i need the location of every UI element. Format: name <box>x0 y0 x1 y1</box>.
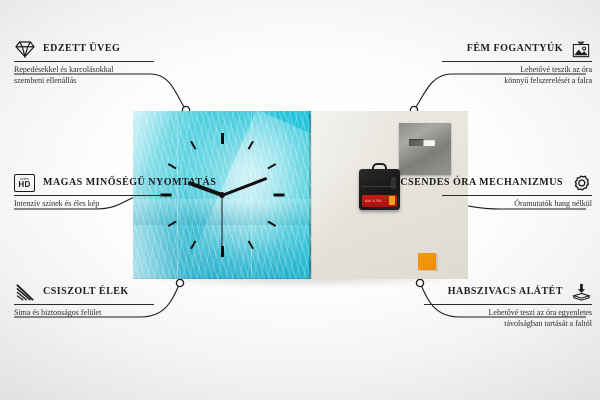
diamond-icon <box>14 40 36 58</box>
callout-header: FÉM FOGANTYÚK <box>442 40 592 58</box>
callout-description: Intenzív színek és éles kép <box>14 199 164 210</box>
callout-description: Óramutatók hang nélkül <box>442 199 592 210</box>
clock-tick <box>248 141 254 150</box>
callout-divider <box>14 304 154 305</box>
mechanism-hook <box>372 163 387 172</box>
callout-title: CSISZOLT ÉLEK <box>43 286 129 299</box>
callout-divider <box>14 195 164 196</box>
callout-title: HABSZIVACS ALÁTÉT <box>448 286 563 299</box>
callout-foam-pad: HABSZIVACS ALÁTÉT Lehetővé teszi az óra … <box>424 283 592 330</box>
callout-header: ultra HD MAGAS MINŐSÉGŰ NYOMTATÁS <box>14 174 164 192</box>
clock-second-hand <box>222 195 223 247</box>
clock-tick <box>190 141 196 150</box>
callout-title: MAGAS MINŐSÉGŰ NYOMTATÁS <box>43 177 216 190</box>
callout-description: Repedésekkel és karcolásokkal szembeni e… <box>14 65 154 87</box>
picture-hanger-icon <box>570 40 592 58</box>
gear-icon <box>570 174 592 192</box>
callout-title: FÉM FOGANTYÚK <box>467 43 563 56</box>
callout-metal-handles: FÉM FOGANTYÚK Lehetővé teszik az óra kön… <box>442 40 592 87</box>
callout-high-quality-print: ultra HD MAGAS MINŐSÉGŰ NYOMTATÁS Intenz… <box>14 174 164 210</box>
battery-terminal <box>389 196 395 205</box>
callout-header: EDZETT ÜVEG <box>14 40 154 58</box>
clock-tick <box>221 246 224 257</box>
clock-center-cap <box>219 192 225 198</box>
ultra-hd-icon-main-text: HD <box>18 181 30 189</box>
clock-tick <box>168 163 177 169</box>
callout-divider <box>424 304 592 305</box>
product-infographic: AA 1.5V EDZETT ÜVEG Repedésekkel és karc… <box>0 0 600 400</box>
ultra-hd-icon: ultra HD <box>14 174 36 192</box>
callout-divider <box>14 61 154 62</box>
callout-tempered-glass: EDZETT ÜVEG Repedésekkel és karcolásokka… <box>14 40 154 87</box>
foam-spacer-pad <box>418 253 436 270</box>
hanger-slot <box>409 139 435 146</box>
callout-title: CSENDES ÓRA MECHANIZMUS <box>400 177 563 190</box>
clock-tick <box>168 221 177 227</box>
clock-minute-hand <box>221 176 267 196</box>
callout-quiet-mechanism: CSENDES ÓRA MECHANIZMUS Óramutatók hang … <box>442 174 592 210</box>
clock-tick <box>267 163 276 169</box>
clock-tick <box>248 240 254 249</box>
callout-description: Lehetővé teszi az óra egyenletes távolsá… <box>424 308 592 330</box>
product-photo: AA 1.5V <box>133 111 468 279</box>
callout-header: CSISZOLT ÉLEK <box>14 283 154 301</box>
clock-tick <box>221 133 224 144</box>
callout-divider <box>442 195 592 196</box>
foam-pad-icon <box>570 283 592 301</box>
clock-tick <box>190 240 196 249</box>
battery-label: AA 1.5V <box>365 198 382 203</box>
clock-tick <box>274 194 285 197</box>
clock-mechanism: AA 1.5V <box>359 169 400 210</box>
metal-hanger-plate <box>399 123 451 175</box>
callout-divider <box>442 61 592 62</box>
callout-description: Sima és biztonságos felület <box>14 308 154 319</box>
polished-edges-icon <box>14 283 36 301</box>
battery: AA 1.5V <box>362 195 397 207</box>
clock-tick <box>267 221 276 227</box>
mechanism-knob <box>391 177 396 189</box>
callout-title: EDZETT ÜVEG <box>43 43 120 56</box>
callout-polished-edges: CSISZOLT ÉLEK Sima és biztonságos felüle… <box>14 283 154 319</box>
callout-header: CSENDES ÓRA MECHANIZMUS <box>442 174 592 192</box>
callout-header: HABSZIVACS ALÁTÉT <box>424 283 592 301</box>
callout-description: Lehetővé teszik az óra könnyű felszerelé… <box>442 65 592 87</box>
